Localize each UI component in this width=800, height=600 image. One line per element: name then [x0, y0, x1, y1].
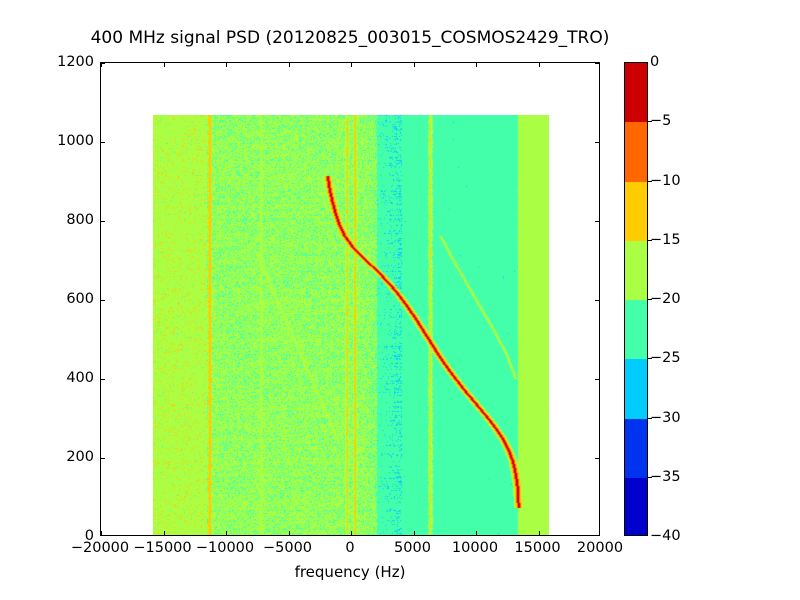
colorbar-band — [625, 63, 647, 123]
x-tick-label: −10000 — [196, 540, 254, 556]
x-tick — [539, 531, 540, 535]
y-tick-right — [595, 221, 599, 222]
y-tick-label: 800 — [66, 212, 94, 228]
x-tick-label: 20000 — [577, 540, 623, 556]
x-tick-top — [414, 63, 415, 67]
x-tick-label: 0 — [345, 540, 354, 556]
y-tick-right — [595, 379, 599, 380]
x-tick-label: −5000 — [263, 540, 312, 556]
colorbar-band — [625, 241, 647, 301]
colorbar-tick-label: 0 — [650, 54, 659, 70]
x-tick-label: 10000 — [452, 540, 498, 556]
y-tick — [101, 142, 105, 143]
y-tick-label: 400 — [66, 370, 94, 386]
y-tick-label: 0 — [85, 528, 94, 544]
x-tick — [289, 531, 290, 535]
y-tick — [101, 63, 105, 64]
colorbar-tick-mark — [648, 240, 652, 241]
spectrogram-canvas — [153, 115, 549, 536]
x-tick-top — [289, 63, 290, 67]
y-tick-label: 600 — [66, 291, 94, 307]
colorbar-tick-label: −10 — [650, 173, 681, 189]
y-tick-right — [595, 63, 599, 64]
colorbar[interactable] — [624, 62, 648, 536]
colorbar-tick-label: −5 — [650, 113, 671, 129]
colorbar-band — [625, 122, 647, 182]
x-tick-label: −15000 — [133, 540, 191, 556]
x-tick — [476, 531, 477, 535]
colorbar-tick-mark — [648, 418, 652, 419]
y-tick-right — [595, 458, 599, 459]
x-tick — [101, 531, 102, 535]
plot-axes[interactable] — [100, 62, 600, 536]
colorbar-band — [625, 419, 647, 479]
y-tick-label: 1200 — [57, 54, 94, 70]
x-tick-top — [164, 63, 165, 67]
y-tick-label: 200 — [66, 449, 94, 465]
colorbar-tick-mark — [648, 181, 652, 182]
x-tick-label: −20000 — [71, 540, 129, 556]
colorbar-tick-mark — [648, 121, 652, 122]
x-tick-label: 15000 — [514, 540, 560, 556]
y-tick-label: 1000 — [57, 133, 94, 149]
colorbar-tick-label: −20 — [650, 291, 681, 307]
page-title: 400 MHz signal PSD (20120825_003015_COSM… — [0, 28, 700, 48]
x-tick-top — [351, 63, 352, 67]
x-axis-label: frequency (Hz) — [100, 563, 600, 581]
colorbar-band — [625, 359, 647, 419]
spectrogram-heatmap — [153, 115, 549, 536]
x-tick — [414, 531, 415, 535]
x-tick-top — [476, 63, 477, 67]
x-tick-label: 5000 — [394, 540, 431, 556]
figure-canvas: 400 MHz signal PSD (20120825_003015_COSM… — [0, 0, 800, 600]
y-tick — [101, 379, 105, 380]
y-tick — [101, 300, 105, 301]
colorbar-tick-label: −35 — [650, 469, 681, 485]
colorbar-tick-label: −15 — [650, 232, 681, 248]
colorbar-tick-label: −25 — [650, 350, 681, 366]
colorbar-tick-mark — [648, 358, 652, 359]
y-tick-right — [595, 142, 599, 143]
colorbar-tick-mark — [648, 477, 652, 478]
x-tick — [226, 531, 227, 535]
y-tick-right — [595, 300, 599, 301]
colorbar-tick-mark — [648, 299, 652, 300]
colorbar-band — [625, 300, 647, 360]
colorbar-band — [625, 182, 647, 242]
y-tick — [101, 458, 105, 459]
x-tick — [351, 531, 352, 535]
y-tick — [101, 221, 105, 222]
x-tick — [164, 531, 165, 535]
x-tick-top — [539, 63, 540, 67]
x-tick-top — [226, 63, 227, 67]
colorbar-tick-label: −30 — [650, 410, 681, 426]
colorbar-band — [625, 478, 647, 536]
colorbar-tick-label: −40 — [650, 528, 681, 544]
